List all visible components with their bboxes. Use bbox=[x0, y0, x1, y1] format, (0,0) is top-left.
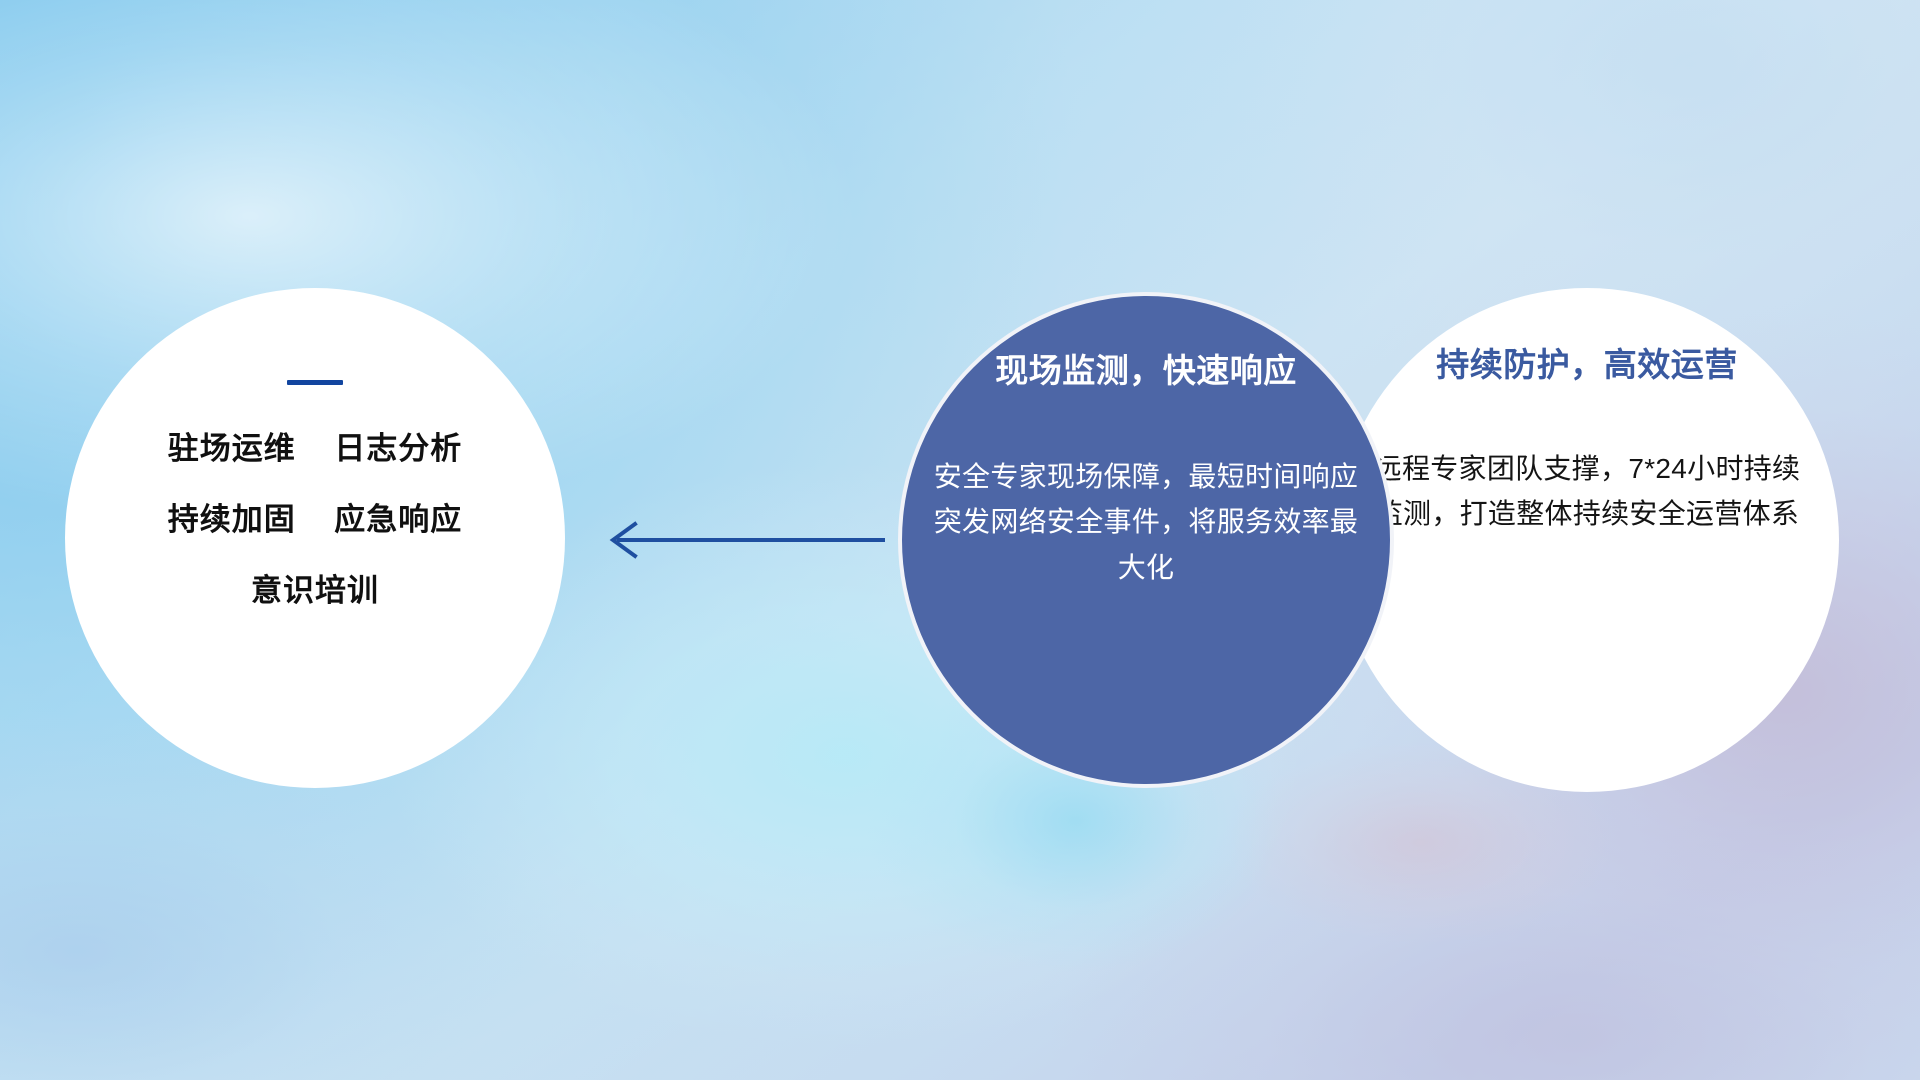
capability-line-3: 意识培训 bbox=[65, 575, 565, 606]
left-circle-content: 驻场运维 日志分析 持续加固 应急响应 意识培训 bbox=[65, 380, 565, 606]
right-circle-heading: 持续防护，高效运营 bbox=[1371, 346, 1803, 384]
middle-circle-content: 现场监测，快速响应 安全专家现场保障，最短时间响应突发网络安全事件，将服务效率最… bbox=[902, 352, 1390, 590]
middle-circle-body-text: 安全专家现场保障，最短时间响应突发网络安全事件，将服务效率最大化 bbox=[928, 454, 1364, 590]
arrow-left-icon bbox=[595, 514, 885, 566]
left-capability-circle: 驻场运维 日志分析 持续加固 应急响应 意识培训 bbox=[65, 288, 565, 788]
capability-line-1: 驻场运维 日志分析 bbox=[65, 433, 565, 464]
right-circle-content: 持续防护，高效运营 远程专家团队支撑，7*24小时持续监测，打造整体持续安全运营… bbox=[1335, 346, 1839, 537]
divider-dash-icon bbox=[287, 380, 343, 385]
slide-canvas: 驻场运维 日志分析 持续加固 应急响应 意识培训 持续防护，高效运营 远程专家团… bbox=[0, 0, 1920, 1080]
middle-monitoring-circle: 现场监测，快速响应 安全专家现场保障，最短时间响应突发网络安全事件，将服务效率最… bbox=[898, 292, 1394, 788]
right-operations-circle: 持续防护，高效运营 远程专家团队支撑，7*24小时持续监测，打造整体持续安全运营… bbox=[1335, 288, 1839, 792]
right-circle-body-text: 远程专家团队支撑，7*24小时持续监测，打造整体持续安全运营体系 bbox=[1371, 446, 1803, 537]
middle-circle-heading: 现场监测，快速响应 bbox=[928, 352, 1364, 390]
capability-line-2: 持续加固 应急响应 bbox=[65, 504, 565, 535]
